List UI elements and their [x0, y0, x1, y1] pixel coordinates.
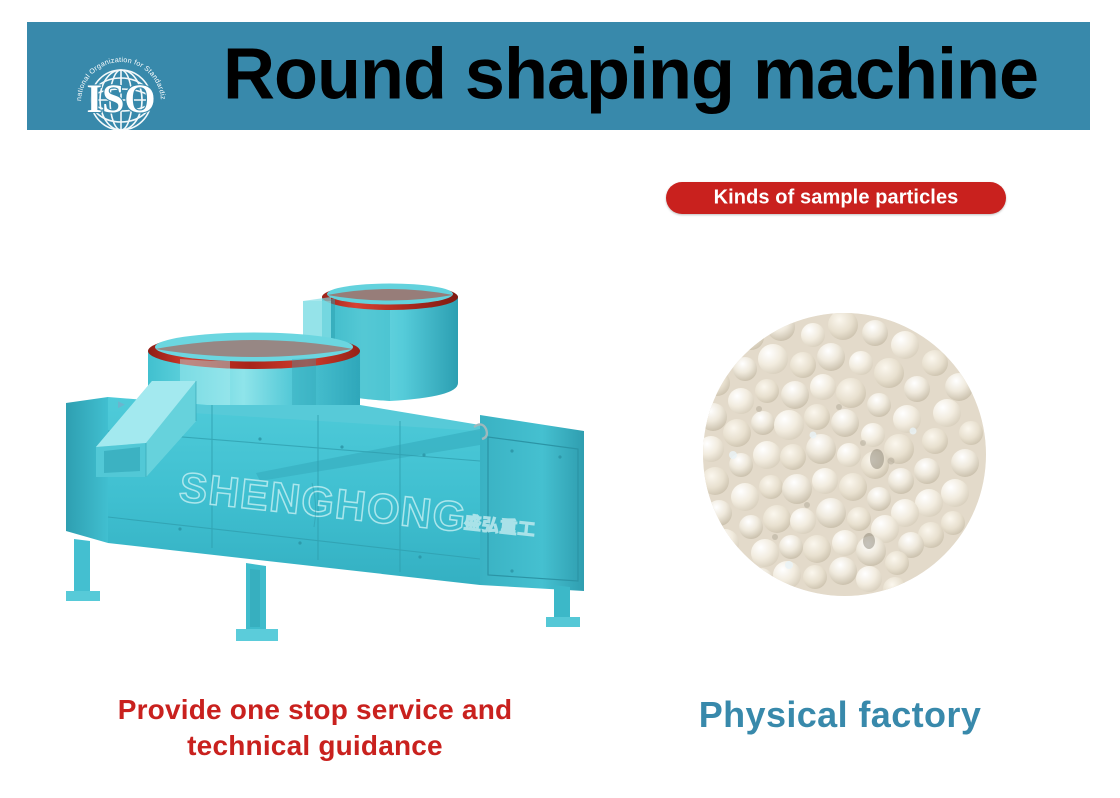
- iso-standard-number: 9001: [102, 129, 140, 148]
- header-banner: International Organization for Standardi…: [27, 22, 1090, 130]
- iso-globe-icon: International Organization for Standardi…: [65, 40, 177, 152]
- product-slide: International Organization for Standardi…: [0, 0, 1120, 798]
- iso-acronym: ISO: [87, 76, 156, 121]
- right-caption: Physical factory: [640, 692, 1040, 737]
- machine-photo: SHENGHONG 盛弘重工 ▶: [60, 255, 620, 655]
- page-title: Round shaping machine: [223, 39, 1038, 111]
- particles-photo: [703, 313, 986, 596]
- left-caption: Provide one stop service and technical g…: [40, 692, 590, 764]
- chute-marking: ▶: [118, 399, 125, 409]
- status-badge: Kinds of sample particles: [666, 182, 1006, 214]
- left-caption-line-1: Provide one stop service and: [40, 692, 590, 728]
- status-badge-label: Kinds of sample particles: [666, 187, 1006, 210]
- left-caption-line-2: technical guidance: [40, 728, 590, 764]
